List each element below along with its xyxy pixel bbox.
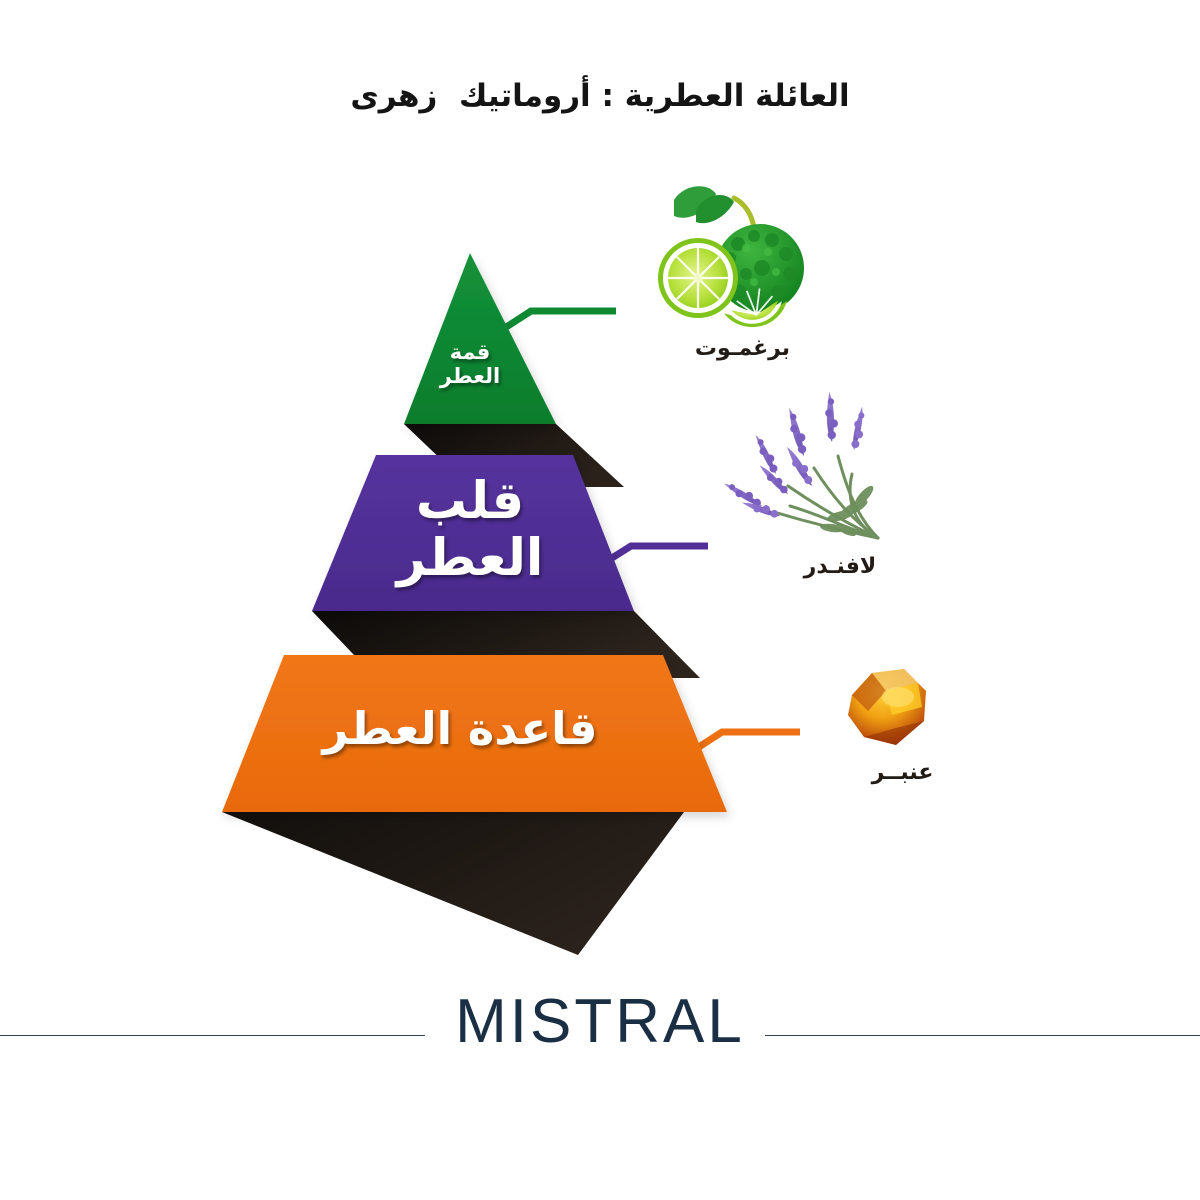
amber-stone-icon <box>848 669 926 745</box>
tier-shadow-base <box>222 812 684 955</box>
brand-logo: MISTRAL <box>0 986 1200 1057</box>
note-caption-lavender: لافنـدر <box>760 554 920 579</box>
lavender-sprig-icon <box>721 391 878 538</box>
pyramid-tier-top[interactable] <box>404 253 556 424</box>
pyramid-tier-base[interactable] <box>222 655 727 812</box>
divider-left <box>0 1035 425 1036</box>
connector-amber <box>688 732 800 754</box>
connector-bergamot <box>497 311 616 333</box>
note-caption-bergamot: برغمـوت <box>640 336 845 361</box>
divider-right <box>765 1035 1200 1036</box>
poster-canvas: العائلة العطرية : أروماتيك زهرى <box>0 0 1200 1200</box>
note-caption-amber: عنبــر <box>825 760 980 785</box>
bergamot-citrus-icon <box>658 186 804 330</box>
